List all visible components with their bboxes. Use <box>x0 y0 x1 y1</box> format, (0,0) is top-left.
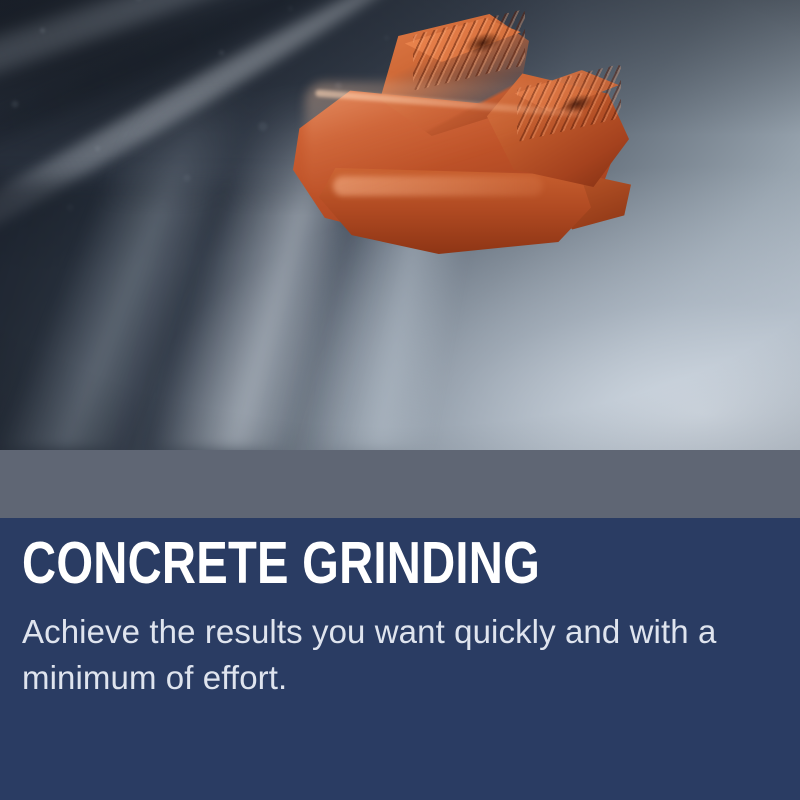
gray-divider-band <box>0 450 800 518</box>
page-title: CONCRETE GRINDING <box>22 532 627 595</box>
concrete-grinding-card[interactable]: CONCRETE GRINDING Achieve the results yo… <box>0 0 800 800</box>
caption-content: CONCRETE GRINDING Achieve the results yo… <box>22 532 778 702</box>
hero-photo <box>0 0 800 450</box>
photo-vignette <box>0 0 800 450</box>
caption-panel: CONCRETE GRINDING Achieve the results yo… <box>0 518 800 800</box>
page-subtitle: Achieve the results you want quickly and… <box>22 609 732 703</box>
